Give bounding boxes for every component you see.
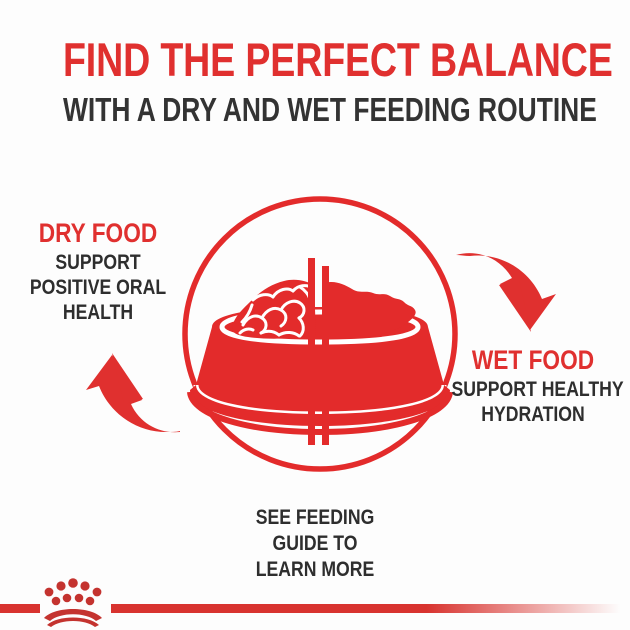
footer-bar-right [111,604,620,613]
callout-dry-line-2: POSITIVE ORAL [16,275,181,300]
callout-dry-food: DRY FOOD SUPPORT POSITIVE ORAL HEALTH [0,218,196,325]
callout-wet-food: WET FOOD SUPPORT HEALTHY HYDRATION [436,345,630,427]
callout-wet-line-2: HYDRATION [452,402,615,427]
callout-wet-title: WET FOOD [452,345,615,375]
dry-food-arrow-icon [86,353,180,432]
callout-dry-line-1: SUPPORT [16,250,181,275]
royal-canin-crown-icon [44,578,102,627]
cta-line-2: GUIDE TO [50,531,579,557]
footer-bar-left [0,604,40,613]
food-bowl-icon [190,258,450,445]
dry-kibble-pile [232,280,316,339]
footer-brand-bar [0,572,630,630]
callout-dry-line-3: HEALTH [16,300,181,325]
cta-line-1: SEE FEEDING [50,505,579,531]
wet-food-arrow-icon [456,253,556,332]
callout-wet-body: SUPPORT HEALTHY HYDRATION [452,377,615,427]
callout-wet-line-1: SUPPORT HEALTHY [452,377,615,402]
callout-dry-title: DRY FOOD [16,218,181,248]
callout-dry-body: SUPPORT POSITIVE ORAL HEALTH [16,250,181,325]
poster-canvas: FIND THE PERFECT BALANCE WITH A DRY AND … [0,0,630,630]
